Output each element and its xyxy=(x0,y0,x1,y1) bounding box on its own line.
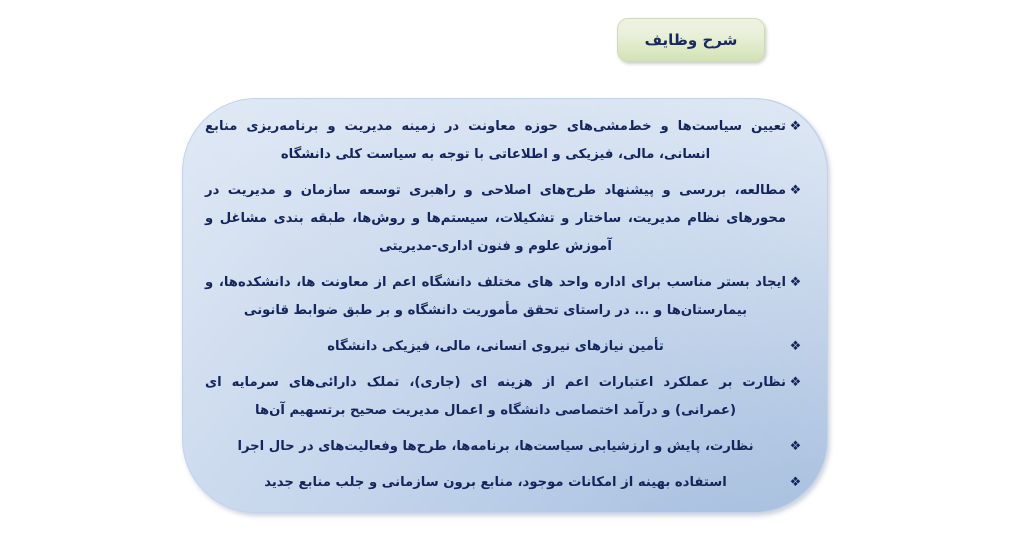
duty-text: مطالعه، بررسی و پیشنهاد طرح‌های اصلاحی و… xyxy=(205,177,786,261)
diamond-bullet-icon: ❖ xyxy=(786,113,805,141)
list-item: ❖ نظارت، پایش و ارزشیابی سیاست‌ها، برنام… xyxy=(205,433,805,461)
duty-text: استفاده بهینه از امکانات موجود، منابع بر… xyxy=(205,469,786,497)
diamond-bullet-icon: ❖ xyxy=(786,433,805,461)
diamond-bullet-icon: ❖ xyxy=(786,269,805,297)
list-item: ❖ نظارت بر عملکرد اعتبارات اعم از هزینه … xyxy=(205,369,805,425)
duties-panel: ❖ تعیین سیاست‌ها و خط‌مشی‌های حوزه معاون… xyxy=(182,98,828,513)
list-item: ❖ ایجاد بستر مناسب برای اداره واحد های م… xyxy=(205,269,805,325)
duty-text: تعیین سیاست‌ها و خط‌مشی‌های حوزه معاونت … xyxy=(205,113,786,169)
diamond-bullet-icon: ❖ xyxy=(786,177,805,205)
duties-list: ❖ تعیین سیاست‌ها و خط‌مشی‌های حوزه معاون… xyxy=(183,99,827,497)
page-title-chip: شرح وظایف xyxy=(617,18,765,62)
duty-text: ایجاد بستر مناسب برای اداره واحد های مخت… xyxy=(205,269,786,325)
list-item: ❖ استفاده بهینه از امکانات موجود، منابع … xyxy=(205,469,805,497)
list-item: ❖ مطالعه، بررسی و پیشنهاد طرح‌های اصلاحی… xyxy=(205,177,805,261)
page-title: شرح وظایف xyxy=(645,31,738,49)
duty-text: تأمین نیازهای نیروی انسانی، مالی، فیزیکی… xyxy=(205,333,786,361)
diamond-bullet-icon: ❖ xyxy=(786,333,805,361)
diamond-bullet-icon: ❖ xyxy=(786,369,805,397)
duty-text: نظارت، پایش و ارزشیابی سیاست‌ها، برنامه‌… xyxy=(205,433,786,461)
duty-text: نظارت بر عملکرد اعتبارات اعم از هزینه ای… xyxy=(205,369,786,425)
list-item: ❖ تأمین نیازهای نیروی انسانی، مالی، فیزی… xyxy=(205,333,805,361)
list-item: ❖ تعیین سیاست‌ها و خط‌مشی‌های حوزه معاون… xyxy=(205,113,805,169)
diamond-bullet-icon: ❖ xyxy=(786,469,805,497)
